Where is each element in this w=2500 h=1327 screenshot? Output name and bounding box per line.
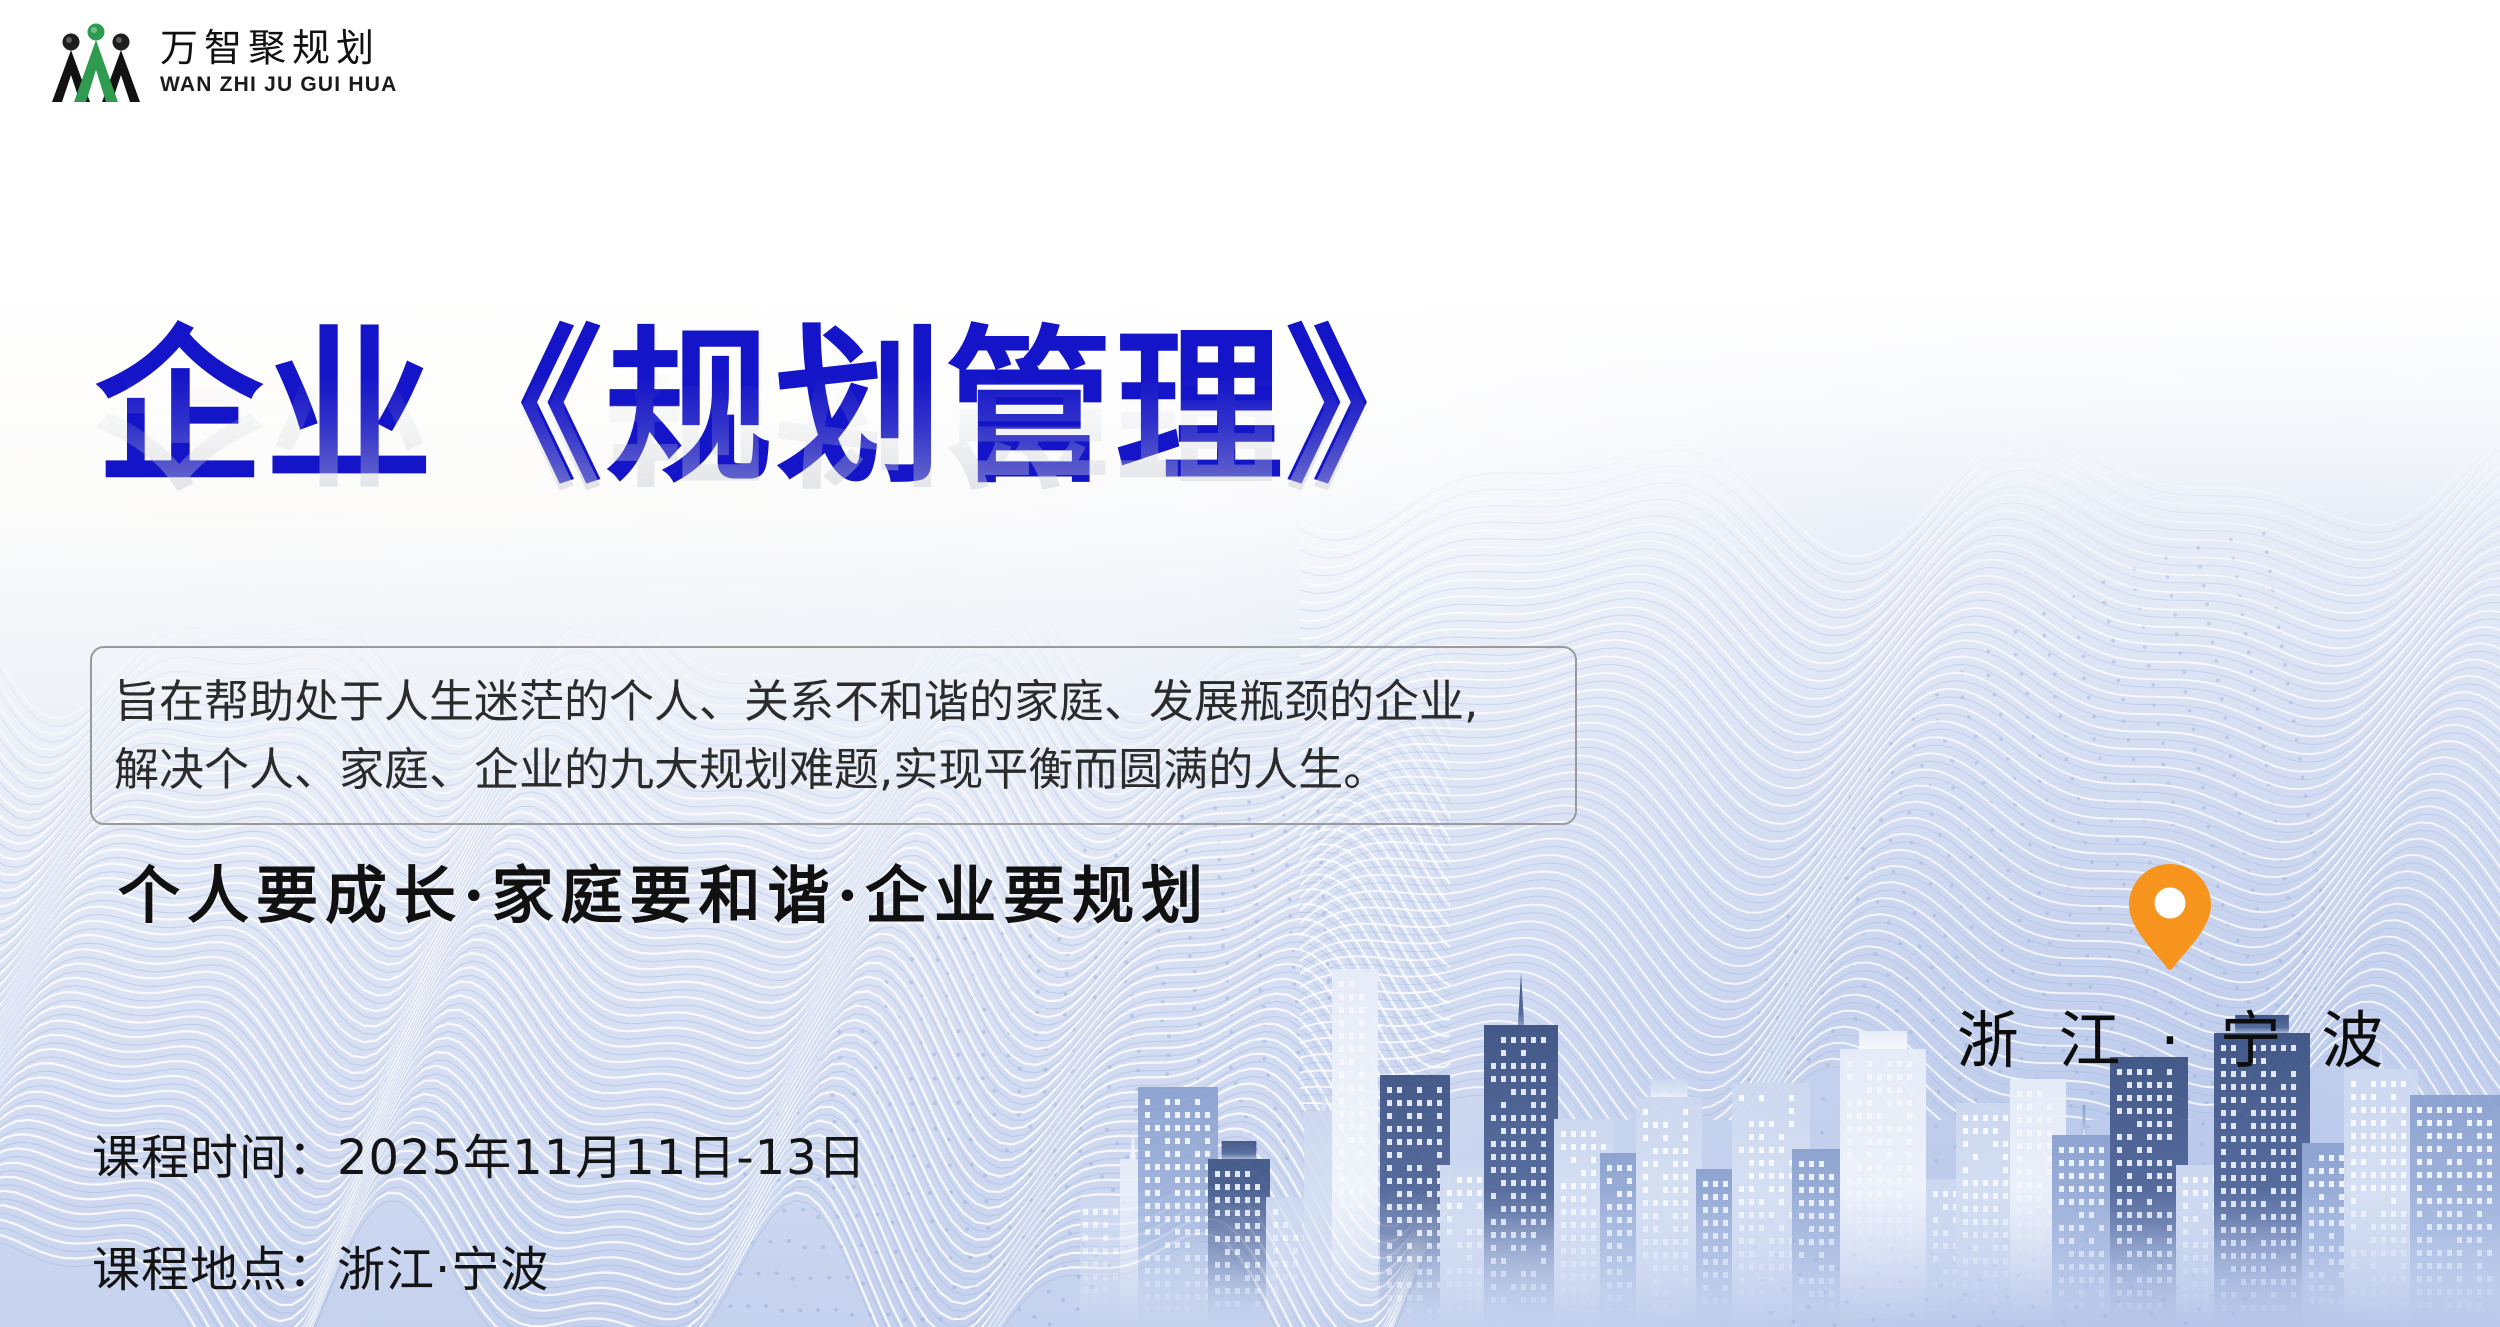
brand-logo[interactable]: 万智聚规划 WAN ZHI JU GUI HUA [50,20,397,104]
tagline: 个人要成长·家庭要和谐·企业要规划 [118,845,1210,935]
description-box: 旨在帮助处于人生迷茫的个人、关系不和谐的家庭、发展瓶颈的企业, 解决个人、家庭、… [90,646,1577,825]
course-time: 课程时间：2025年11月11日-13日 [92,1118,867,1188]
course-info: 课程时间：2025年11月11日-13日 课程地点：浙江·宁波 [92,1118,867,1300]
brand-name-en: WAN ZHI JU GUI HUA [160,74,397,95]
three-people-logo-icon [50,20,142,104]
brand-name-cn: 万智聚规划 [160,29,397,67]
description-line-1: 旨在帮助处于人生迷茫的个人、关系不和谐的家庭、发展瓶颈的企业, [114,668,1553,736]
course-place: 课程地点：浙江·宁波 [92,1230,867,1300]
location-text: 浙 江 · 宁 波 [1947,990,2394,1080]
location-badge: 浙 江 · 宁 波 [1960,862,2380,1080]
description-line-2: 解决个人、家庭、企业的九大规划难题,实现平衡而圆满的人生。 [114,736,1553,804]
page-title-reflection: 企业《规划管理》 [95,312,1455,493]
poster-canvas: 万智聚规划 WAN ZHI JU GUI HUA 企业《规划管理》 企业《规划管… [0,0,2500,1327]
map-pin-icon [2127,862,2213,972]
hero-title-block: 企业《规划管理》 企业《规划管理》 [95,318,1455,675]
